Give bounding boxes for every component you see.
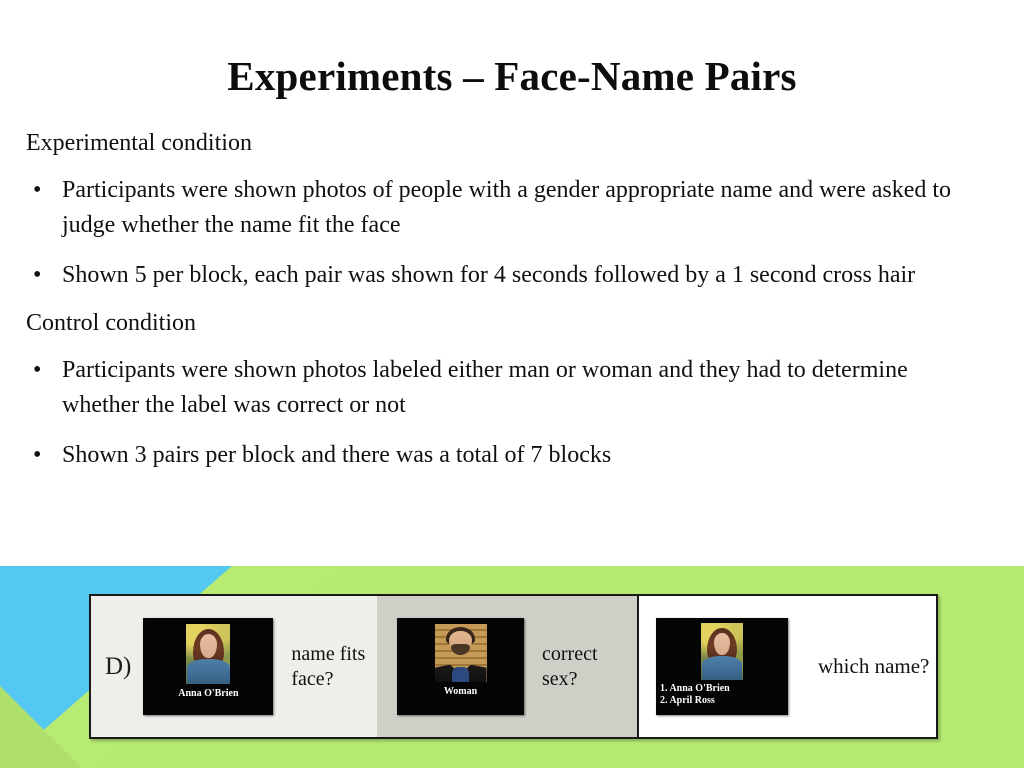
- stimulus-figure: D) Anna O'Brien name fits face?: [89, 594, 938, 739]
- panel-c-prompt-line-1: which name?: [818, 654, 929, 680]
- stimulus-panel-c: 1. Anna O'Brien 2. April Ross which name…: [637, 596, 936, 737]
- spacer: [26, 429, 970, 438]
- control-bullet-1-text: Participants were shown photos labeled e…: [62, 353, 970, 423]
- experimental-condition-heading: Experimental condition: [26, 128, 970, 159]
- stimulus-name-options: 1. Anna O'Brien 2. April Ross: [656, 683, 730, 707]
- stimulus-card-b: Woman: [397, 618, 524, 715]
- name-option-1: 1. Anna O'Brien: [660, 683, 730, 695]
- experimental-bullet-1-text: Participants were shown photos of people…: [62, 173, 970, 243]
- photo-clothing: [187, 659, 229, 684]
- list-item: • Shown 3 pairs per block and there was …: [26, 438, 970, 473]
- stimulus-name-label: Anna O'Brien: [178, 688, 238, 699]
- panel-a-prompt-line-1: name fits: [291, 642, 365, 666]
- list-item: • Participants were shown photos labeled…: [26, 353, 970, 423]
- panel-a-prompt: name fits face?: [291, 642, 365, 691]
- portrait-photo-woman: [701, 623, 743, 680]
- bullet-marker-icon: •: [26, 173, 62, 208]
- photo-clothing: [702, 656, 742, 680]
- photo-shirt: [452, 667, 470, 682]
- spacer: [26, 249, 970, 258]
- panel-b-prompt: correct sex?: [542, 642, 598, 691]
- stimulus-sex-label: Woman: [444, 686, 477, 697]
- stimulus-card-a: Anna O'Brien: [143, 618, 273, 715]
- page-title: Experiments – Face-Name Pairs: [0, 52, 1024, 100]
- portrait-photo-woman: [186, 624, 230, 684]
- spacer: [26, 299, 970, 308]
- photo-face: [200, 634, 217, 658]
- panel-b-prompt-line-2: sex?: [542, 667, 598, 691]
- panel-letter-label: D): [105, 653, 131, 681]
- name-option-2: 2. April Ross: [660, 695, 730, 707]
- stimulus-panel-b: Woman correct sex?: [377, 596, 637, 737]
- stimulus-card-c: 1. Anna O'Brien 2. April Ross: [656, 618, 788, 715]
- portrait-photo-man: [435, 624, 487, 682]
- list-item: • Shown 5 per block, each pair was shown…: [26, 258, 970, 293]
- panel-b-prompt-line-1: correct: [542, 642, 598, 666]
- bullet-marker-icon: •: [26, 438, 62, 473]
- bullet-marker-icon: •: [26, 353, 62, 388]
- spacer: [26, 164, 970, 173]
- slide-body: Experimental condition • Participants we…: [26, 128, 970, 479]
- stimulus-panel-a: D) Anna O'Brien name fits face?: [91, 596, 377, 737]
- panel-c-prompt: which name?: [818, 654, 929, 680]
- panel-a-prompt-line-2: face?: [291, 667, 365, 691]
- bullet-marker-icon: •: [26, 258, 62, 293]
- control-bullet-2-text: Shown 3 pairs per block and there was a …: [62, 438, 970, 473]
- list-item: • Participants were shown photos of peop…: [26, 173, 970, 243]
- control-condition-heading: Control condition: [26, 308, 970, 339]
- experimental-bullet-2-text: Shown 5 per block, each pair was shown f…: [62, 258, 970, 293]
- spacer: [26, 344, 970, 353]
